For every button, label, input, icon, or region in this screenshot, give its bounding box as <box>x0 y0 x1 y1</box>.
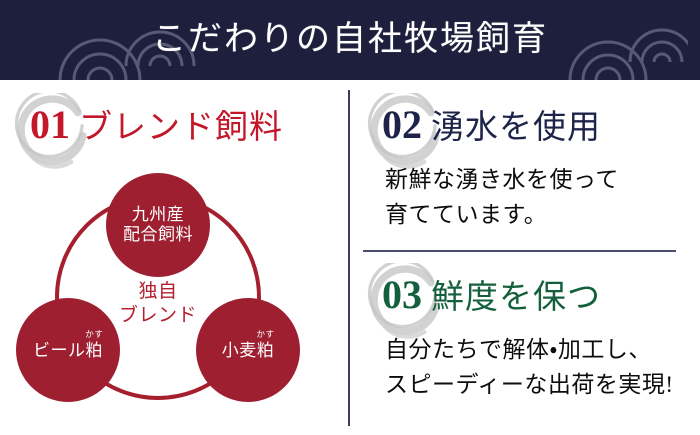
venn-circle-right <box>196 298 300 402</box>
section-body-03: 自分たちで解体・加工し、 スピーディーな出荷を実現! <box>385 332 674 402</box>
section-body-03-line2: スピーディーな出荷を実現! <box>385 367 674 402</box>
section-heading-01: 01ブレンド飼料 <box>30 105 283 145</box>
section-heading-03: 03鮮度を保つ <box>382 275 601 315</box>
venn-circle-left <box>16 298 120 402</box>
header-banner: こだわりの自社牧場飼育 <box>0 0 700 80</box>
section-body-03-line1: 自分たちで解体・加工し、 <box>385 332 674 367</box>
venn-diagram-graphic <box>0 165 348 425</box>
section-body-02-line1: 新鮮な湧き水を使って <box>385 162 619 197</box>
header-title: こだわりの自社牧場飼育 <box>0 0 700 80</box>
column-divider <box>348 90 350 426</box>
section-divider <box>363 250 676 252</box>
section-title-01: ブレンド飼料 <box>79 110 283 146</box>
section-body-02-line2: 育てています。 <box>385 197 619 232</box>
section-number-03: 03 <box>382 272 422 317</box>
venn-diagram: 九州産 配合飼料 独自 ブレンド ビールかす粕 小麦かす粕 <box>0 165 348 425</box>
section-title-02: 湧水を使用 <box>431 110 601 146</box>
venn-circle-top <box>106 173 210 277</box>
section-body-02: 新鮮な湧き水を使って 育てています。 <box>385 162 619 232</box>
section-heading-02: 02湧水を使用 <box>382 105 601 145</box>
section-number-01: 01 <box>30 102 70 147</box>
promo-graphic: こだわりの自社牧場飼育 01ブレンド飼料 九州産 配合飼料 独自 ブレンド <box>0 0 700 435</box>
section-number-02: 02 <box>382 102 422 147</box>
section-title-03: 鮮度を保つ <box>431 280 601 316</box>
